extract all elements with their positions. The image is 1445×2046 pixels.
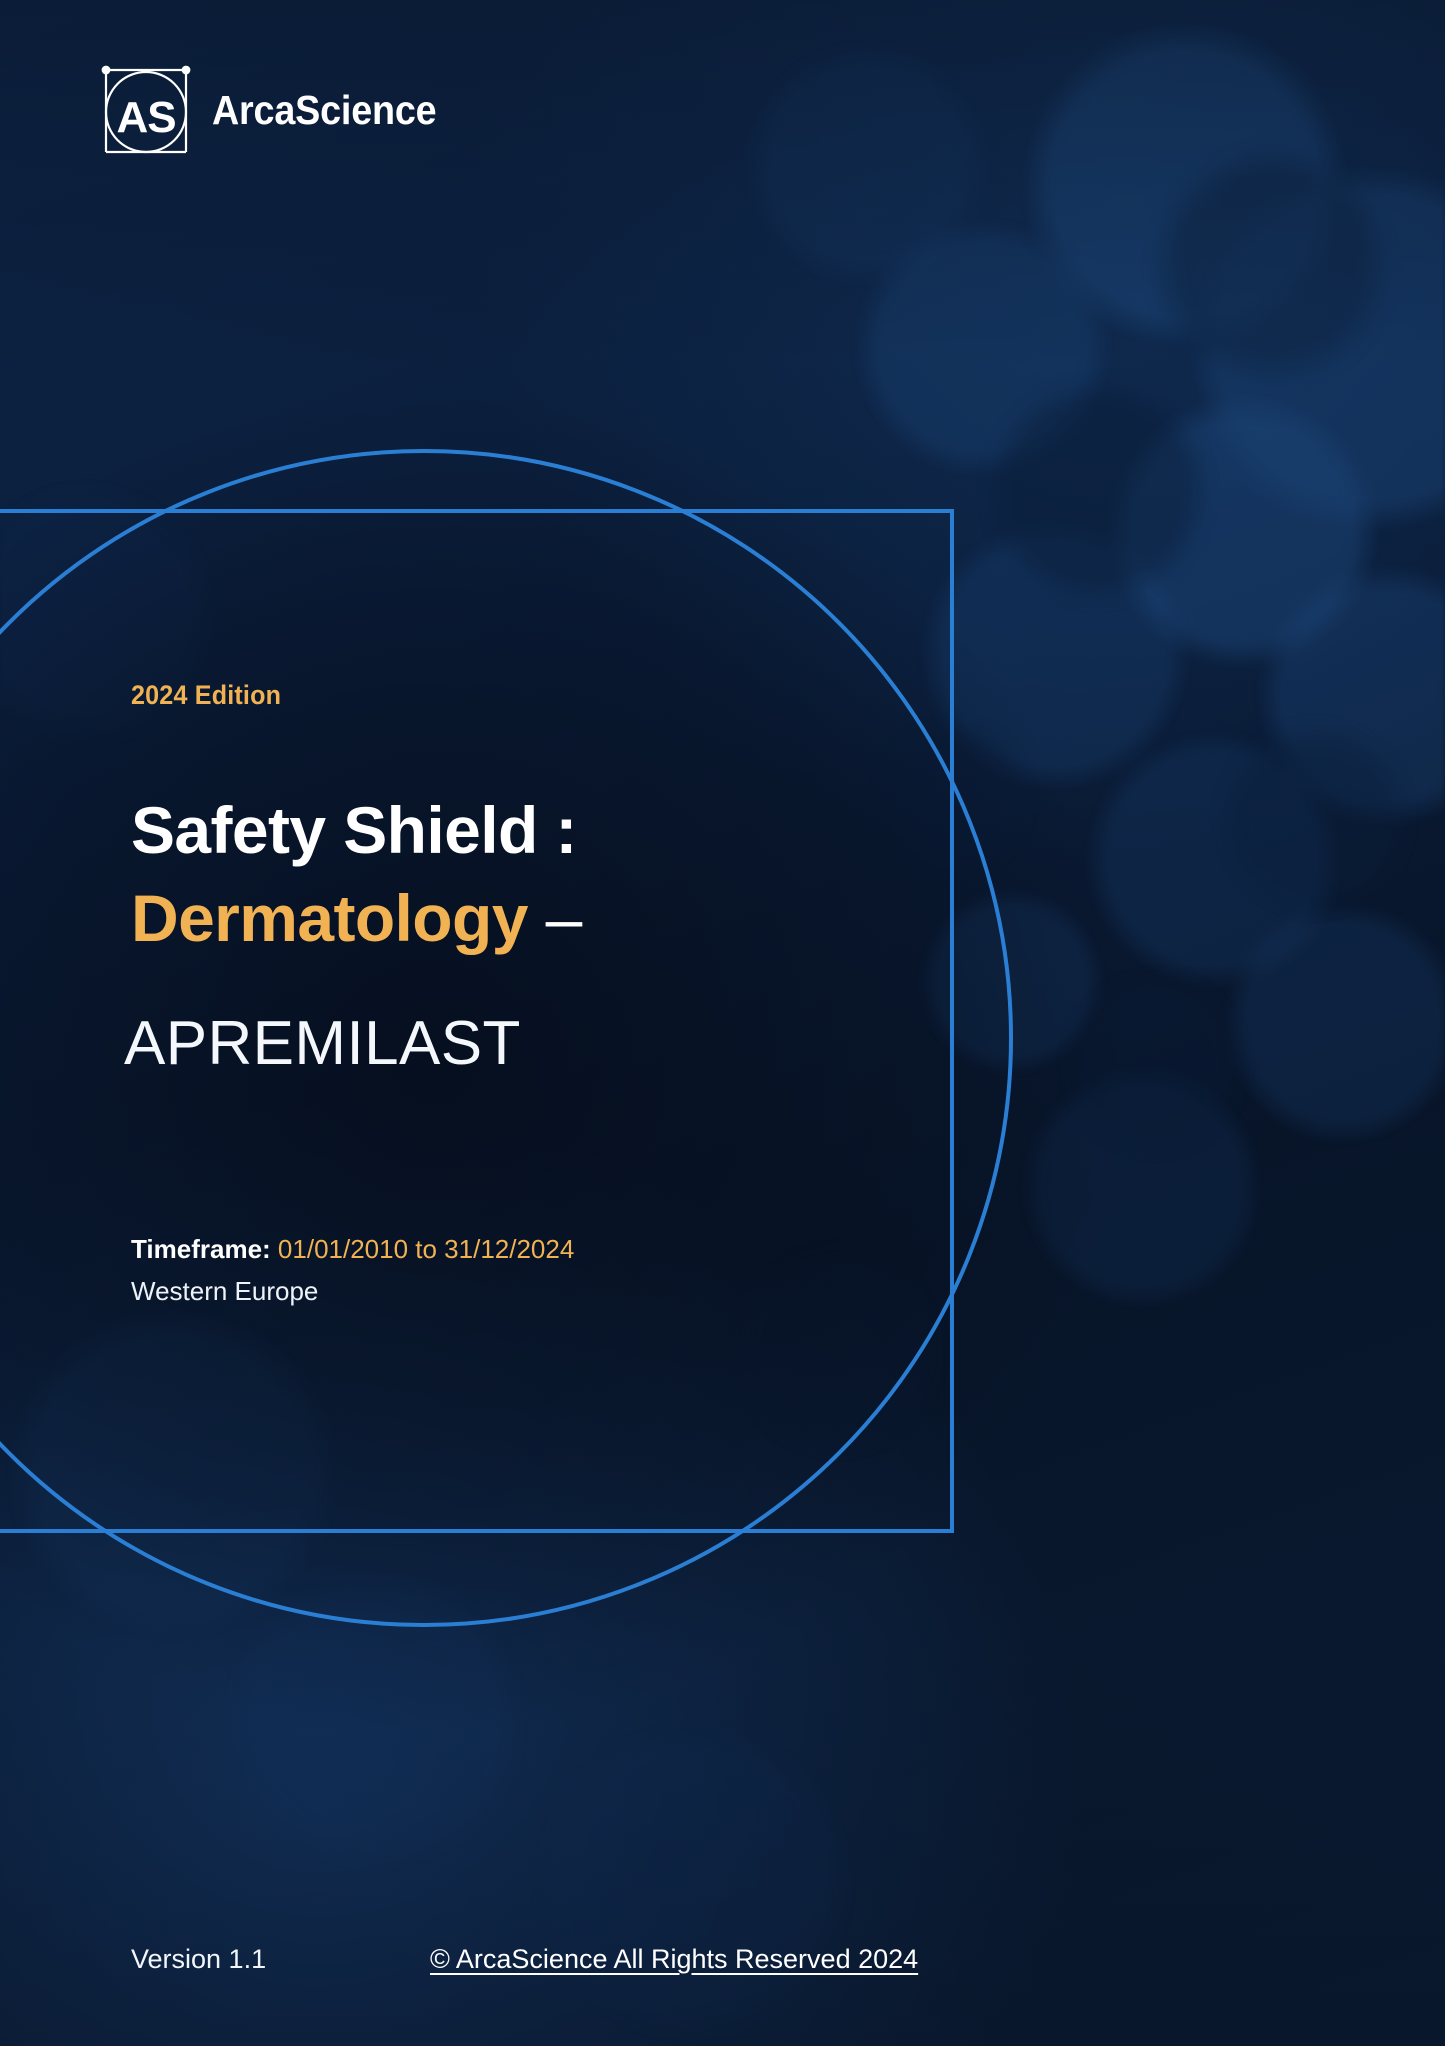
copyright-link[interactable]: © ArcaScience All Rights Reserved 2024 — [430, 1944, 918, 1975]
page-footer: Version 1.1 © ArcaScience All Rights Res… — [0, 1944, 1445, 1984]
edition-badge: 2024 Edition — [131, 680, 894, 711]
brand-wordmark: ArcaScience — [212, 87, 436, 134]
timeframe-value: 01/01/2010 to 31/12/2024 — [278, 1234, 574, 1264]
page-title: Safety Shield : Dermatology – — [131, 797, 951, 953]
svg-text:AS: AS — [116, 93, 175, 142]
cover-page: AS ArcaScience 2024 Edition Safety Shiel… — [0, 0, 1445, 2046]
region-row: Western Europe — [131, 1270, 951, 1312]
timeframe-row: Timeframe: 01/01/2010 to 31/12/2024 — [131, 1228, 951, 1270]
cover-content: 2024 Edition Safety Shield : Dermatology… — [131, 680, 951, 1312]
brand-logo: AS ArcaScience — [98, 62, 456, 158]
timeframe-label: Timeframe — [131, 1234, 262, 1264]
title-dash: – — [546, 881, 582, 955]
title-specialty: Dermatology — [131, 881, 528, 955]
version-label: Version 1.1 — [131, 1944, 266, 1975]
region-value: Western Europe — [131, 1276, 318, 1306]
title-line-2: Dermatology – — [131, 885, 951, 953]
arcascience-logo-icon: AS — [98, 62, 194, 158]
drug-name: APREMILAST — [124, 1011, 951, 1076]
cover-metadata: Timeframe: 01/01/2010 to 31/12/2024 West… — [131, 1228, 951, 1312]
timeframe-separator: : — [262, 1234, 278, 1264]
title-line-1: Safety Shield : — [131, 793, 577, 867]
